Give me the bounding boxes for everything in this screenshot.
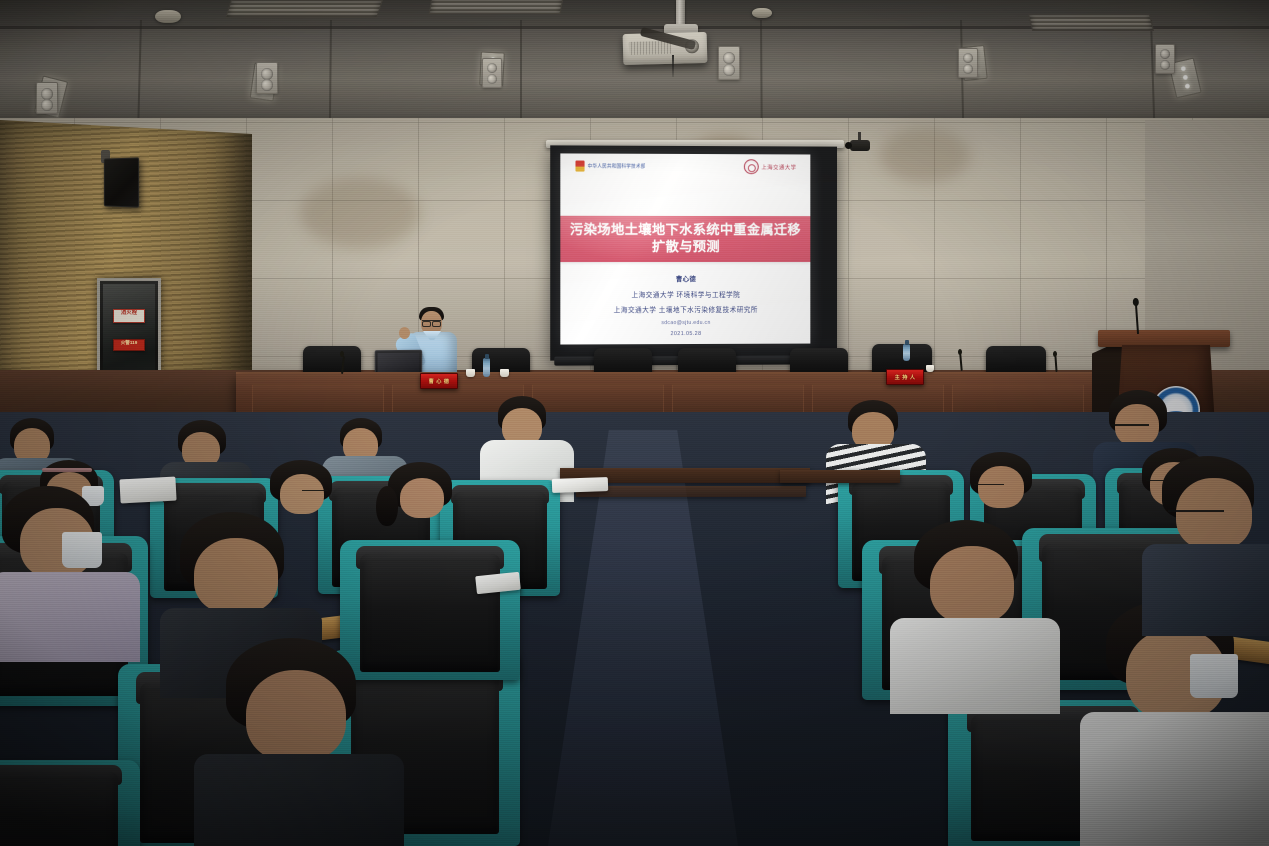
attendee [900,520,1050,700]
surveillance-camera-icon [850,140,870,151]
attendee-masked [0,486,130,636]
presenter-hand [399,327,410,339]
folding-tablet-writing-pad[interactable] [552,477,608,493]
attendee [210,638,390,846]
slide-affiliation-2: 上海交通大学 土壤地下水污染修复技术研究所 [614,304,758,314]
wall-outlet-plate[interactable] [482,58,502,88]
nameplate-char: 人 [910,374,916,381]
university-logo: 上海交通大学 [744,159,797,174]
water-bottle[interactable] [903,344,910,361]
wall-outlet-plate[interactable] [36,82,58,114]
ceiling-panel-seam [329,20,332,128]
smoke-detector-icon [752,8,772,18]
slide-header: 中华人民共和国科学技术部 上海交通大学 [560,153,810,188]
auditorium-seat[interactable] [0,760,140,846]
ceiling-panel-seam [1150,20,1155,128]
air-vent-grille [1028,14,1154,31]
glasses-icon [422,320,441,325]
lecture-hall-photo: 消火栓 火警119 灭火器 [0,0,1269,846]
nameplate-char: 持 [902,374,908,381]
slide-affiliation-1: 上海交通大学 环境科学与工程学院 [632,288,741,298]
table-microphone[interactable] [958,349,962,355]
slide-presenter-name: 曹心德 [676,274,696,283]
screen-surface: 中华人民共和国科学技术部 上海交通大学 污染场地土壤地下水系统中重金属迁移 扩散… [560,153,810,344]
ceiling-panel-seam [760,20,763,128]
folding-tablet-writing-pad[interactable] [119,477,176,504]
wall-speaker [104,157,139,207]
university-logo-text: 上海交通大学 [761,163,796,171]
nameplate-char: 主 [895,374,901,381]
wall-outlet-plate[interactable] [1155,44,1175,74]
sjtu-seal-icon [744,159,759,174]
wall-outlet-plate[interactable] [958,48,978,78]
fire-alarm-label: 火警119 [113,339,145,351]
projection-screen: 中华人民共和国科学技术部 上海交通大学 污染场地土壤地下水系统中重金属迁移 扩散… [550,145,837,360]
slide-email: sdcao@sjtu.edu.cn [661,319,710,325]
ministry-logo-text: 中华人民共和国科学技术部 [588,163,646,170]
nameplate-char: 德 [444,378,450,385]
wall-stain [300,178,420,248]
ministry-logo: 中华人民共和国科学技术部 [575,161,645,172]
row-writing-desk [780,470,900,483]
podium-top [1098,330,1230,347]
slide-title-line1: 污染场地土壤地下水系统中重金属迁移 [570,222,801,239]
attendee [380,462,470,534]
attendee [960,452,1050,526]
air-vent-grille [225,0,383,18]
presentation-slide: 中华人民共和国科学技术部 上海交通大学 污染场地土壤地下水系统中重金属迁移 扩散… [560,153,810,344]
paper-cup[interactable] [466,369,475,377]
projector-cable [672,55,674,77]
host-nameplate: 主 持 人 [886,369,924,385]
table-microphone[interactable] [340,351,344,357]
table-microphone[interactable] [1053,351,1057,357]
slide-body: 曹心德 上海交通大学 环境科学与工程学院 上海交通大学 土壤地下水污染修复技术研… [560,274,810,338]
attendee [1150,456,1269,616]
smoke-detector-icon [155,10,181,23]
slide-date: 2021.05.28 [670,331,701,337]
water-bottle[interactable] [483,358,490,377]
slide-title-line2: 扩散与预测 [652,239,720,256]
speaker-nameplate: 曹 心 德 [420,373,458,389]
attendee-masked [1100,600,1269,846]
wall-outlet-plate[interactable] [718,46,740,80]
wall-stain [880,128,970,183]
paper-cup[interactable] [926,365,934,372]
slide-title-band: 污染场地土壤地下水系统中重金属迁移 扩散与预测 [560,216,810,262]
air-vent-grille [429,0,564,14]
fire-hydrant-label: 消火栓 [113,309,145,323]
wall-outlet-plate[interactable] [256,62,278,94]
projector-vents [629,41,671,55]
nameplate-char: 曹 [429,378,435,385]
row-writing-desk [576,486,806,497]
nameplate-char: 心 [436,378,442,385]
ceiling-panel-seam [520,20,522,128]
most-emblem-icon [575,161,584,172]
paper-cup[interactable] [500,369,509,377]
ceiling-panel-seam [137,20,142,128]
